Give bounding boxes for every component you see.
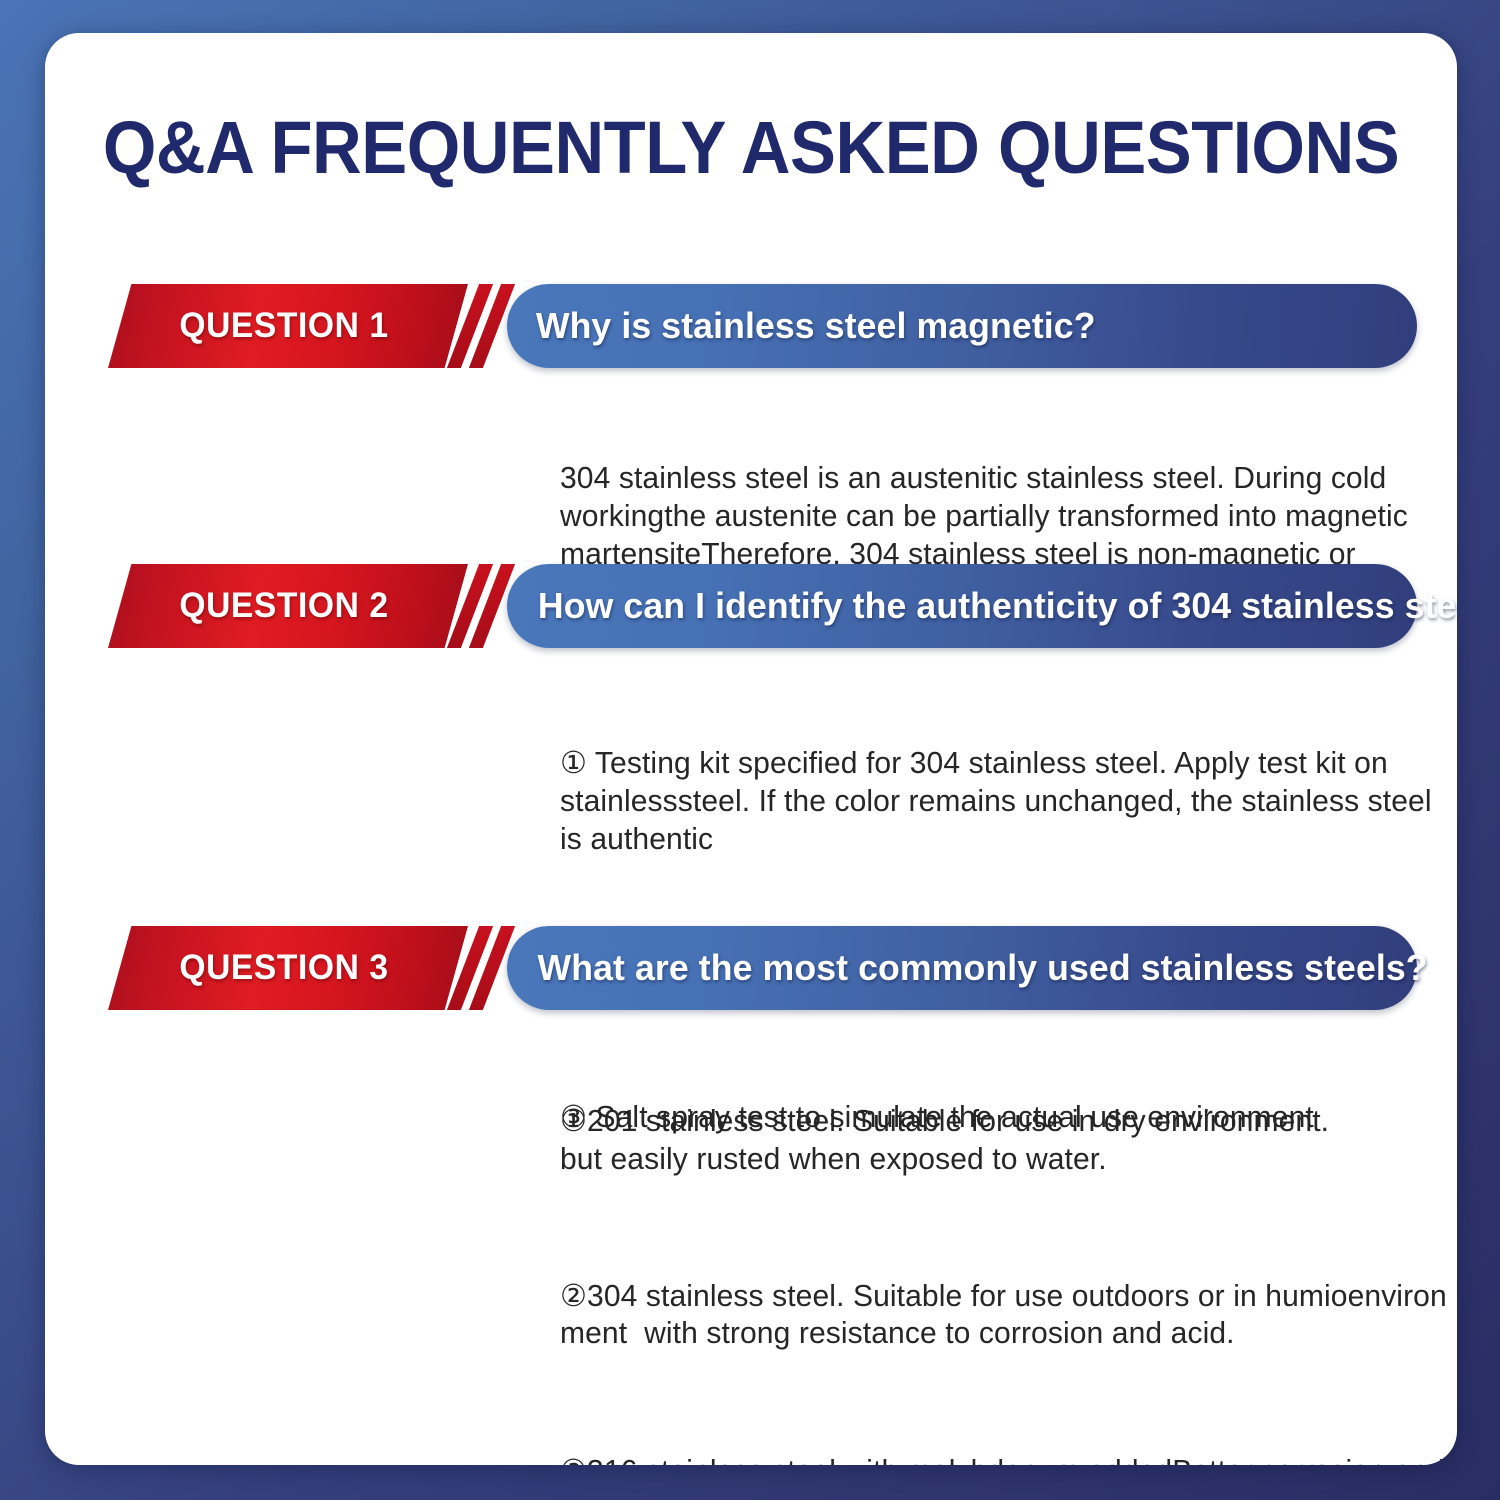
- question-text: Why is stainless steel magnetic?: [536, 305, 1096, 347]
- question-pill-1[interactable]: Why is stainless steel magnetic?: [507, 284, 1417, 368]
- question-pill-3[interactable]: What are the most commonly used stainles…: [507, 926, 1417, 1010]
- question-tag-2: QUESTION 2: [108, 564, 468, 648]
- question-pill-2[interactable]: How can I identify the authenticity of 3…: [507, 564, 1417, 648]
- question-text: How can I identify the authenticity of 3…: [538, 585, 1457, 627]
- faq-row-3: QUESTION 3 What are the most commonly us…: [45, 926, 1457, 1010]
- faq-card: Q&A FREQUENTLY ASKED QUESTIONS QUESTION …: [45, 33, 1457, 1465]
- question-text: What are the most commonly used stainles…: [537, 947, 1427, 989]
- question-tag-3: QUESTION 3: [108, 926, 468, 1010]
- question-tag-label: QUESTION 2: [179, 586, 388, 626]
- answer-paragraph: ③316 stainless steel with molybdenum add…: [560, 1453, 1454, 1465]
- question-tag-1: QUESTION 1: [108, 284, 468, 368]
- faq-row-1: QUESTION 1 Why is stainless steel magnet…: [45, 284, 1457, 368]
- question-tag-label: QUESTION 3: [179, 948, 388, 988]
- question-tag-label: QUESTION 1: [179, 306, 388, 346]
- answer-paragraph: ②304 stainless steel. Suitable for use o…: [560, 1278, 1454, 1352]
- answer-paragraph: ① Testing kit specified for 304 stainles…: [560, 745, 1454, 858]
- faq-row-2: QUESTION 2 How can I identify the authen…: [45, 564, 1457, 648]
- answer-block-3: ①201 stainless steel. Suitable for use i…: [560, 1029, 1454, 1465]
- answer-paragraph: ①201 stainless steel. Suitable for use i…: [560, 1103, 1454, 1177]
- page-title: Q&A FREQUENTLY ASKED QUESTIONS: [94, 111, 1407, 185]
